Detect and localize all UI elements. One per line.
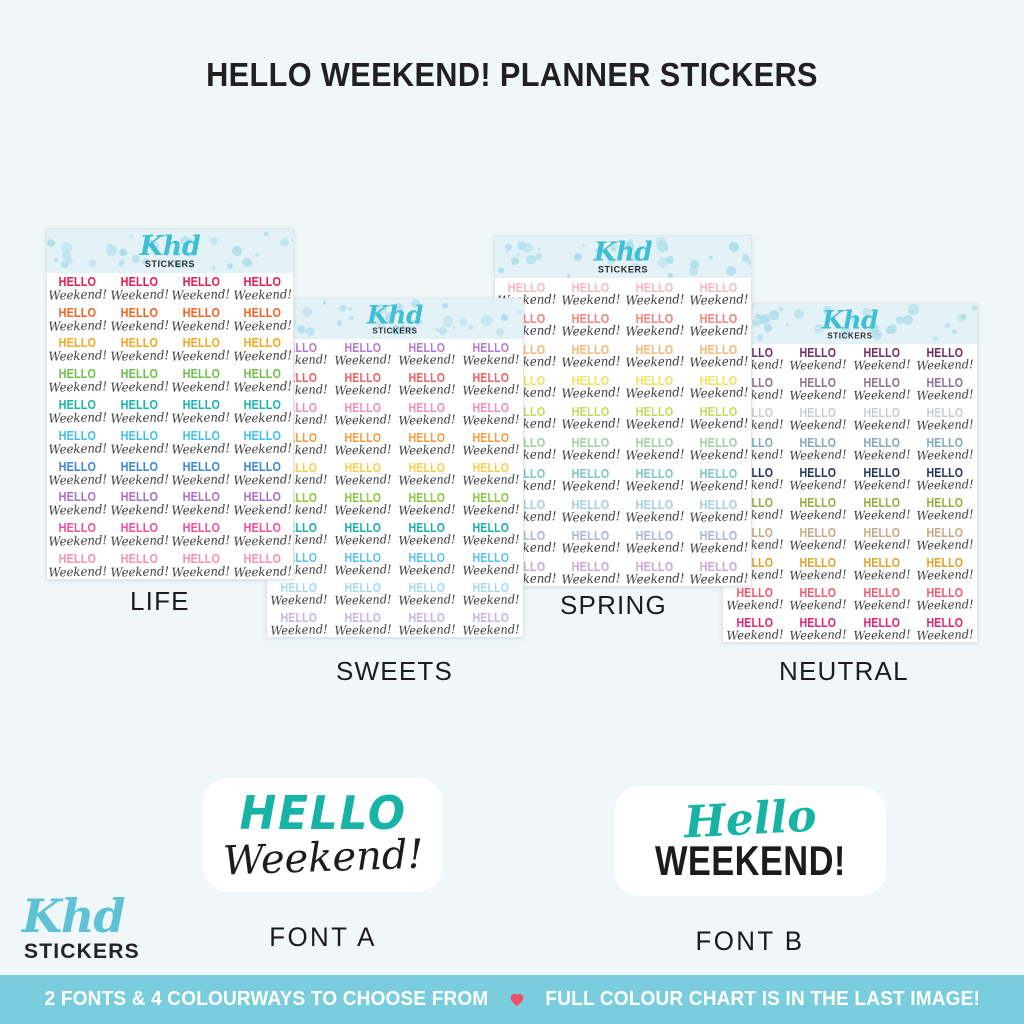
- sticker-weekend-text: Weekend!: [790, 479, 847, 493]
- sticker-item[interactable]: HELLOWeekend!: [459, 489, 523, 519]
- sticker-weekend-text: Weekend!: [853, 359, 910, 373]
- sticker-item[interactable]: HELLOWeekend!: [687, 371, 751, 402]
- sticker-weekend-text: Weekend!: [172, 503, 231, 517]
- sticker-weekend-text: Weekend!: [398, 444, 455, 458]
- font-b-caption: FONT B: [616, 926, 885, 957]
- sticker-weekend-text: Weekend!: [689, 355, 748, 369]
- sticker-weekend-text: Weekend!: [172, 442, 231, 456]
- sticker-sheet-neutral[interactable]: KhdSTICKERSHELLOWeekend!HELLOWeekend!HEL…: [722, 303, 978, 643]
- sticker-weekend-text: Weekend!: [398, 384, 455, 398]
- sticker-weekend-text: Weekend!: [110, 319, 169, 333]
- sticker-weekend-text: Weekend!: [398, 474, 455, 488]
- sticker-weekend-text: Weekend!: [853, 629, 910, 643]
- sticker-weekend-text: Weekend!: [625, 479, 684, 493]
- sticker-hello-text: HELLO: [121, 307, 159, 320]
- sticker-weekend-text: Weekend!: [110, 565, 169, 579]
- sticker-hello-text: HELLO: [244, 461, 282, 474]
- sticker-item[interactable]: HELLOWeekend!: [914, 554, 978, 584]
- sticker-weekend-text: Weekend!: [233, 534, 292, 548]
- sticker-weekend-text: Weekend!: [853, 539, 910, 553]
- sticker-weekend-text: Weekend!: [790, 359, 847, 373]
- banner-text-after: FULL COLOUR CHART IS IN THE LAST IMAGE!: [545, 988, 980, 1011]
- sticker-item[interactable]: HELLOWeekend!: [787, 614, 851, 643]
- sheet-label-life: LIFE: [130, 586, 190, 617]
- sticker-weekend-text: Weekend!: [334, 594, 391, 608]
- sticker-item[interactable]: HELLOWeekend!: [331, 519, 395, 549]
- font-a-hello: HELLO: [228, 790, 419, 836]
- sticker-weekend-text: Weekend!: [790, 599, 847, 613]
- sticker-item[interactable]: HELLOWeekend!: [459, 369, 523, 399]
- sticker-item[interactable]: HELLOWeekend!: [331, 489, 395, 519]
- sticker-item[interactable]: HELLOWeekend!: [787, 464, 851, 494]
- sticker-item[interactable]: HELLOWeekend!: [232, 365, 294, 396]
- sticker-item[interactable]: HELLOWeekend!: [459, 579, 523, 609]
- sticker-hello-text: HELLO: [244, 307, 282, 320]
- sticker-weekend-text: Weekend!: [233, 288, 292, 302]
- sticker-weekend-text: Weekend!: [917, 419, 974, 433]
- sticker-grid: HELLOWeekend!HELLOWeekend!HELLOWeekend!H…: [723, 344, 977, 643]
- sticker-weekend-text: Weekend!: [398, 624, 455, 638]
- sticker-weekend-text: Weekend!: [172, 349, 231, 363]
- sticker-weekend-text: Weekend!: [172, 534, 231, 548]
- sticker-weekend-text: Weekend!: [561, 572, 620, 586]
- watermark-stickers: STICKERS: [140, 260, 200, 269]
- sticker-item[interactable]: HELLOWeekend!: [170, 396, 232, 427]
- sticker-weekend-text: Weekend!: [334, 534, 391, 548]
- sticker-item[interactable]: HELLOWeekend!: [459, 549, 523, 579]
- sticker-item[interactable]: HELLOWeekend!: [850, 344, 914, 374]
- sticker-item[interactable]: HELLOWeekend!: [331, 369, 395, 399]
- sticker-item[interactable]: HELLOWeekend!: [914, 374, 978, 404]
- sticker-weekend-text: Weekend!: [462, 504, 519, 518]
- sticker-item[interactable]: HELLOWeekend!: [623, 402, 687, 433]
- sticker-item[interactable]: HELLOWeekend!: [331, 609, 395, 638]
- sheet-watermark: KhdSTICKERS: [594, 240, 652, 275]
- sticker-item[interactable]: HELLOWeekend!: [559, 433, 623, 464]
- sticker-weekend-text: Weekend!: [233, 319, 292, 333]
- sticker-item[interactable]: HELLOWeekend!: [559, 340, 623, 371]
- sticker-weekend-text: Weekend!: [233, 442, 292, 456]
- sticker-grid: HELLOWeekend!HELLOWeekend!HELLOWeekend!H…: [47, 273, 293, 580]
- sticker-item[interactable]: HELLOWeekend!: [170, 304, 232, 335]
- sticker-item[interactable]: HELLOWeekend!: [914, 464, 978, 494]
- sticker-item[interactable]: HELLOWeekend!: [914, 404, 978, 434]
- sticker-item[interactable]: HELLOWeekend!: [331, 549, 395, 579]
- watermark-stickers: STICKERS: [594, 266, 652, 275]
- sheet-watermark: KhdSTICKERS: [367, 303, 423, 336]
- sticker-weekend-text: Weekend!: [853, 419, 910, 433]
- sticker-item[interactable]: HELLOWeekend!: [232, 519, 294, 550]
- bottom-banner: 2 FONTS & 4 COLOURWAYS TO CHOOSE FROM FU…: [0, 975, 1024, 1024]
- sheet-label-neutral: NEUTRAL: [779, 656, 909, 687]
- sticker-weekend-text: Weekend!: [334, 354, 391, 368]
- sticker-item[interactable]: HELLOWeekend!: [850, 434, 914, 464]
- sticker-weekend-text: Weekend!: [625, 448, 684, 462]
- sticker-weekend-text: Weekend!: [462, 414, 519, 428]
- sticker-sheet-spring[interactable]: KhdSTICKERSHELLOWeekend!HELLOWeekend!HEL…: [494, 235, 752, 587]
- sticker-item[interactable]: HELLOWeekend!: [687, 340, 751, 371]
- sticker-item[interactable]: HELLOWeekend!: [850, 404, 914, 434]
- sticker-weekend-text: Weekend!: [561, 448, 620, 462]
- sticker-weekend-text: Weekend!: [462, 564, 519, 578]
- sticker-item[interactable]: HELLOWeekend!: [331, 579, 395, 609]
- sticker-item[interactable]: HELLOWeekend!: [459, 459, 523, 489]
- sticker-item[interactable]: HELLOWeekend!: [687, 433, 751, 464]
- sticker-item[interactable]: HELLOWeekend!: [787, 494, 851, 524]
- font-b-sticker: Hello WEEKEND!: [614, 786, 887, 896]
- sticker-item[interactable]: HELLOWeekend!: [914, 524, 978, 554]
- sticker-item[interactable]: HELLOWeekend!: [623, 340, 687, 371]
- sticker-item[interactable]: HELLOWeekend!: [109, 304, 171, 335]
- sticker-item[interactable]: HELLOWeekend!: [687, 309, 751, 340]
- sticker-item[interactable]: HELLOWeekend!: [109, 365, 171, 396]
- sticker-weekend-text: Weekend!: [853, 449, 910, 463]
- sticker-weekend-text: Weekend!: [689, 541, 748, 555]
- sticker-weekend-text: Weekend!: [48, 565, 107, 579]
- sticker-hello-text: HELLO: [121, 461, 159, 474]
- sticker-item[interactable]: HELLOWeekend!: [47, 273, 109, 304]
- sticker-item[interactable]: HELLOWeekend!: [850, 554, 914, 584]
- sticker-weekend-text: Weekend!: [110, 442, 169, 456]
- sticker-item[interactable]: HELLOWeekend!: [109, 427, 171, 458]
- sticker-item[interactable]: HELLOWeekend!: [559, 371, 623, 402]
- sticker-item[interactable]: HELLOWeekend!: [47, 489, 109, 520]
- sticker-item[interactable]: HELLOWeekend!: [850, 374, 914, 404]
- sheet-watermark: KhdSTICKERS: [822, 308, 878, 341]
- sticker-item[interactable]: HELLOWeekend!: [331, 459, 395, 489]
- sticker-item[interactable]: HELLOWeekend!: [850, 524, 914, 554]
- sticker-item[interactable]: HELLOWeekend!: [787, 524, 851, 554]
- sticker-item[interactable]: HELLOWeekend!: [623, 464, 687, 495]
- sticker-item[interactable]: HELLOWeekend!: [914, 494, 978, 524]
- sticker-item[interactable]: HELLOWeekend!: [232, 458, 294, 489]
- font-a-sticker: HELLO Weekend!: [203, 778, 444, 892]
- sticker-item[interactable]: HELLOWeekend!: [787, 584, 851, 614]
- sticker-item[interactable]: HELLOWeekend!: [459, 429, 523, 459]
- sticker-item[interactable]: HELLOWeekend!: [47, 519, 109, 550]
- sticker-item[interactable]: HELLOWeekend!: [109, 489, 171, 520]
- watermark-khd: Khd: [140, 233, 200, 260]
- sticker-weekend-text: Weekend!: [334, 414, 391, 428]
- sticker-item[interactable]: HELLOWeekend!: [232, 335, 294, 366]
- sticker-weekend-text: Weekend!: [561, 355, 620, 369]
- sticker-weekend-text: Weekend!: [790, 569, 847, 583]
- watermark-stickers: STICKERS: [822, 333, 878, 341]
- sticker-weekend-text: Weekend!: [110, 411, 169, 425]
- heart-icon: [509, 992, 525, 1007]
- sticker-item[interactable]: HELLOWeekend!: [331, 429, 395, 459]
- sticker-weekend-text: Weekend!: [917, 359, 974, 373]
- sticker-weekend-text: Weekend!: [853, 509, 910, 523]
- sticker-item[interactable]: HELLOWeekend!: [170, 365, 232, 396]
- sticker-item[interactable]: HELLOWeekend!: [787, 404, 851, 434]
- sticker-item[interactable]: HELLOWeekend!: [395, 519, 459, 549]
- font-b-weekend: WEEKEND!: [655, 840, 846, 882]
- sticker-item[interactable]: HELLOWeekend!: [331, 399, 395, 429]
- sticker-item[interactable]: HELLOWeekend!: [395, 369, 459, 399]
- sticker-weekend-text: Weekend!: [110, 288, 169, 302]
- sticker-item[interactable]: HELLOWeekend!: [232, 550, 294, 580]
- sticker-item[interactable]: HELLOWeekend!: [623, 495, 687, 526]
- sticker-weekend-text: Weekend!: [110, 534, 169, 548]
- sticker-item[interactable]: HELLOWeekend!: [914, 584, 978, 614]
- sticker-weekend-text: Weekend!: [853, 389, 910, 403]
- sticker-item[interactable]: HELLOWeekend!: [559, 464, 623, 495]
- sticker-item[interactable]: HELLOWeekend!: [331, 339, 395, 369]
- sticker-weekend-text: Weekend!: [110, 473, 169, 487]
- sticker-weekend-text: Weekend!: [726, 599, 783, 613]
- sticker-item[interactable]: HELLOWeekend!: [47, 458, 109, 489]
- sticker-item[interactable]: HELLOWeekend!: [850, 494, 914, 524]
- sticker-item[interactable]: HELLOWeekend!: [850, 464, 914, 494]
- sticker-weekend-text: Weekend!: [110, 503, 169, 517]
- sticker-weekend-text: Weekend!: [233, 503, 292, 517]
- sticker-item[interactable]: HELLOWeekend!: [395, 549, 459, 579]
- sticker-hello-text: HELLO: [182, 307, 220, 320]
- sticker-item[interactable]: HELLOWeekend!: [559, 557, 623, 587]
- sticker-item[interactable]: HELLOWeekend!: [559, 309, 623, 340]
- sticker-item[interactable]: HELLOWeekend!: [232, 396, 294, 427]
- sticker-weekend-text: Weekend!: [334, 444, 391, 458]
- sticker-item[interactable]: HELLOWeekend!: [267, 579, 331, 609]
- sticker-item[interactable]: HELLOWeekend!: [559, 526, 623, 557]
- sticker-weekend-text: Weekend!: [689, 324, 748, 338]
- sticker-weekend-text: Weekend!: [172, 380, 231, 394]
- font-a-caption: FONT A: [184, 922, 462, 953]
- sticker-weekend-text: Weekend!: [270, 624, 327, 638]
- sticker-item[interactable]: HELLOWeekend!: [395, 399, 459, 429]
- sticker-weekend-text: Weekend!: [462, 354, 519, 368]
- sticker-item[interactable]: HELLOWeekend!: [109, 550, 171, 580]
- sticker-item[interactable]: HELLOWeekend!: [395, 609, 459, 638]
- sticker-item[interactable]: HELLOWeekend!: [723, 614, 787, 643]
- sticker-item[interactable]: HELLOWeekend!: [267, 609, 331, 638]
- sticker-item[interactable]: HELLOWeekend!: [109, 396, 171, 427]
- sticker-weekend-text: Weekend!: [270, 594, 327, 608]
- sticker-item[interactable]: HELLOWeekend!: [914, 344, 978, 374]
- sticker-item[interactable]: HELLOWeekend!: [687, 557, 751, 587]
- sticker-item[interactable]: HELLOWeekend!: [170, 427, 232, 458]
- sticker-item[interactable]: HELLOWeekend!: [623, 371, 687, 402]
- sticker-item[interactable]: HELLOWeekend!: [170, 458, 232, 489]
- sticker-weekend-text: Weekend!: [917, 509, 974, 523]
- sticker-weekend-text: Weekend!: [233, 349, 292, 363]
- sticker-sheet-life[interactable]: KhdSTICKERSHELLOWeekend!HELLOWeekend!HEL…: [46, 228, 294, 580]
- sticker-weekend-text: Weekend!: [233, 473, 292, 487]
- sticker-weekend-text: Weekend!: [334, 564, 391, 578]
- brand-logo: Khd STICKERS: [22, 893, 140, 962]
- sticker-weekend-text: Weekend!: [561, 386, 620, 400]
- sticker-weekend-text: Weekend!: [462, 624, 519, 638]
- sticker-item[interactable]: HELLOWeekend!: [109, 519, 171, 550]
- sticker-weekend-text: Weekend!: [334, 474, 391, 488]
- sticker-item[interactable]: HELLOWeekend!: [914, 614, 978, 643]
- sticker-weekend-text: Weekend!: [790, 449, 847, 463]
- sticker-item[interactable]: HELLOWeekend!: [170, 273, 232, 304]
- sticker-item[interactable]: HELLOWeekend!: [109, 335, 171, 366]
- sticker-item[interactable]: HELLOWeekend!: [687, 495, 751, 526]
- sticker-item[interactable]: HELLOWeekend!: [623, 278, 687, 309]
- sticker-item[interactable]: HELLOWeekend!: [47, 550, 109, 580]
- sticker-item[interactable]: HELLOWeekend!: [170, 519, 232, 550]
- sticker-item[interactable]: HELLOWeekend!: [850, 614, 914, 643]
- sticker-item[interactable]: HELLOWeekend!: [559, 495, 623, 526]
- sheet-label-sweets: SWEETS: [336, 656, 453, 687]
- sticker-weekend-text: Weekend!: [48, 473, 107, 487]
- sticker-weekend-text: Weekend!: [853, 599, 910, 613]
- sticker-weekend-text: Weekend!: [790, 539, 847, 553]
- sticker-item[interactable]: HELLOWeekend!: [395, 489, 459, 519]
- sticker-hello-text: HELLO: [59, 307, 97, 320]
- sticker-item[interactable]: HELLOWeekend!: [850, 584, 914, 614]
- sticker-item[interactable]: HELLOWeekend!: [723, 584, 787, 614]
- sticker-hello-text: HELLO: [59, 461, 97, 474]
- sticker-item[interactable]: HELLOWeekend!: [623, 309, 687, 340]
- sticker-weekend-text: Weekend!: [689, 386, 748, 400]
- sticker-item[interactable]: HELLOWeekend!: [687, 526, 751, 557]
- sticker-weekend-text: Weekend!: [917, 389, 974, 403]
- sticker-weekend-text: Weekend!: [790, 509, 847, 523]
- sticker-weekend-text: Weekend!: [917, 599, 974, 613]
- sticker-weekend-text: Weekend!: [790, 629, 847, 643]
- sticker-item[interactable]: HELLOWeekend!: [47, 396, 109, 427]
- sticker-weekend-text: Weekend!: [917, 539, 974, 553]
- sticker-weekend-text: Weekend!: [625, 572, 684, 586]
- sticker-item[interactable]: HELLOWeekend!: [109, 458, 171, 489]
- sticker-weekend-text: Weekend!: [625, 541, 684, 555]
- sticker-weekend-text: Weekend!: [398, 504, 455, 518]
- sticker-item[interactable]: HELLOWeekend!: [232, 304, 294, 335]
- sticker-item[interactable]: HELLOWeekend!: [459, 399, 523, 429]
- sticker-grid: HELLOWeekend!HELLOWeekend!HELLOWeekend!H…: [495, 278, 751, 587]
- sticker-item[interactable]: HELLOWeekend!: [170, 489, 232, 520]
- sticker-weekend-text: Weekend!: [462, 444, 519, 458]
- sticker-item[interactable]: HELLOWeekend!: [47, 365, 109, 396]
- sticker-item[interactable]: HELLOWeekend!: [395, 459, 459, 489]
- sticker-item[interactable]: HELLOWeekend!: [459, 609, 523, 638]
- sticker-weekend-text: Weekend!: [625, 417, 684, 431]
- sticker-weekend-text: Weekend!: [625, 324, 684, 338]
- sticker-weekend-text: Weekend!: [561, 417, 620, 431]
- sheet-header: KhdSTICKERS: [723, 304, 977, 344]
- sticker-weekend-text: Weekend!: [398, 414, 455, 428]
- sticker-item[interactable]: HELLOWeekend!: [623, 557, 687, 587]
- sticker-item[interactable]: HELLOWeekend!: [687, 402, 751, 433]
- sticker-weekend-text: Weekend!: [110, 380, 169, 394]
- sticker-weekend-text: Weekend!: [48, 380, 107, 394]
- sticker-item[interactable]: HELLOWeekend!: [395, 429, 459, 459]
- sticker-weekend-text: Weekend!: [790, 419, 847, 433]
- sticker-weekend-text: Weekend!: [625, 510, 684, 524]
- sticker-item[interactable]: HELLOWeekend!: [914, 434, 978, 464]
- sticker-weekend-text: Weekend!: [48, 319, 107, 333]
- sticker-item[interactable]: HELLOWeekend!: [787, 554, 851, 584]
- sticker-weekend-text: Weekend!: [917, 569, 974, 583]
- sticker-item[interactable]: HELLOWeekend!: [170, 550, 232, 580]
- watermark-khd: Khd: [822, 308, 878, 333]
- sticker-weekend-text: Weekend!: [462, 474, 519, 488]
- font-a-weekend: Weekend!: [222, 835, 424, 882]
- sticker-weekend-text: Weekend!: [853, 569, 910, 583]
- sticker-item[interactable]: HELLOWeekend!: [170, 335, 232, 366]
- banner-text-before: 2 FONTS & 4 COLOURWAYS TO CHOOSE FROM: [44, 988, 488, 1011]
- sticker-item[interactable]: HELLOWeekend!: [559, 402, 623, 433]
- sticker-weekend-text: Weekend!: [172, 473, 231, 487]
- sticker-weekend-text: Weekend!: [689, 510, 748, 524]
- sheet-header: KhdSTICKERS: [47, 229, 293, 273]
- sticker-weekend-text: Weekend!: [48, 349, 107, 363]
- sticker-item[interactable]: HELLOWeekend!: [459, 339, 523, 369]
- sticker-weekend-text: Weekend!: [462, 384, 519, 398]
- sticker-item[interactable]: HELLOWeekend!: [623, 526, 687, 557]
- sticker-weekend-text: Weekend!: [398, 594, 455, 608]
- sticker-item[interactable]: HELLOWeekend!: [559, 278, 623, 309]
- sticker-weekend-text: Weekend!: [172, 411, 231, 425]
- sticker-sheet-sweets[interactable]: KhdSTICKERSHELLOWeekend!HELLOWeekend!HEL…: [266, 298, 524, 638]
- sticker-weekend-text: Weekend!: [726, 629, 783, 643]
- sticker-weekend-text: Weekend!: [853, 479, 910, 493]
- sticker-item[interactable]: HELLOWeekend!: [395, 579, 459, 609]
- sticker-weekend-text: Weekend!: [462, 534, 519, 548]
- sticker-grid: HELLOWeekend!HELLOWeekend!HELLOWeekend!H…: [267, 339, 523, 638]
- sticker-item[interactable]: HELLOWeekend!: [232, 273, 294, 304]
- sticker-weekend-text: Weekend!: [917, 629, 974, 643]
- sticker-weekend-text: Weekend!: [561, 541, 620, 555]
- sticker-weekend-text: Weekend!: [917, 449, 974, 463]
- sticker-weekend-text: Weekend!: [233, 411, 292, 425]
- sticker-weekend-text: Weekend!: [625, 293, 684, 307]
- sticker-item[interactable]: HELLOWeekend!: [787, 374, 851, 404]
- sticker-weekend-text: Weekend!: [110, 349, 169, 363]
- sheet-watermark: KhdSTICKERS: [140, 233, 200, 269]
- sheet-header: KhdSTICKERS: [267, 299, 523, 339]
- sticker-item[interactable]: HELLOWeekend!: [47, 427, 109, 458]
- sticker-weekend-text: Weekend!: [334, 624, 391, 638]
- sticker-item[interactable]: HELLOWeekend!: [459, 519, 523, 549]
- sticker-weekend-text: Weekend!: [625, 355, 684, 369]
- sticker-weekend-text: Weekend!: [172, 319, 231, 333]
- sticker-weekend-text: Weekend!: [48, 442, 107, 456]
- sheet-header: KhdSTICKERS: [495, 236, 751, 278]
- sticker-item[interactable]: HELLOWeekend!: [47, 335, 109, 366]
- sticker-item[interactable]: HELLOWeekend!: [109, 273, 171, 304]
- sticker-weekend-text: Weekend!: [462, 594, 519, 608]
- sticker-item[interactable]: HELLOWeekend!: [232, 427, 294, 458]
- sticker-weekend-text: Weekend!: [233, 565, 292, 579]
- sticker-weekend-text: Weekend!: [334, 504, 391, 518]
- sticker-weekend-text: Weekend!: [233, 380, 292, 394]
- sticker-item[interactable]: HELLOWeekend!: [232, 489, 294, 520]
- sticker-item[interactable]: HELLOWeekend!: [687, 464, 751, 495]
- sticker-item[interactable]: HELLOWeekend!: [787, 434, 851, 464]
- font-sample-b: Hello WEEKEND! FONT B: [610, 786, 890, 957]
- sticker-item[interactable]: HELLOWeekend!: [395, 339, 459, 369]
- sticker-weekend-text: Weekend!: [625, 386, 684, 400]
- sticker-weekend-text: Weekend!: [689, 448, 748, 462]
- sticker-weekend-text: Weekend!: [334, 384, 391, 398]
- sticker-item[interactable]: HELLOWeekend!: [623, 433, 687, 464]
- sticker-weekend-text: Weekend!: [398, 354, 455, 368]
- sticker-weekend-text: Weekend!: [48, 288, 107, 302]
- sticker-item[interactable]: HELLOWeekend!: [47, 304, 109, 335]
- sticker-weekend-text: Weekend!: [48, 534, 107, 548]
- sticker-weekend-text: Weekend!: [917, 479, 974, 493]
- sticker-item[interactable]: HELLOWeekend!: [687, 278, 751, 309]
- watermark-stickers: STICKERS: [367, 328, 423, 336]
- sticker-weekend-text: Weekend!: [689, 417, 748, 431]
- sticker-item[interactable]: HELLOWeekend!: [787, 344, 851, 374]
- sticker-weekend-text: Weekend!: [689, 572, 748, 586]
